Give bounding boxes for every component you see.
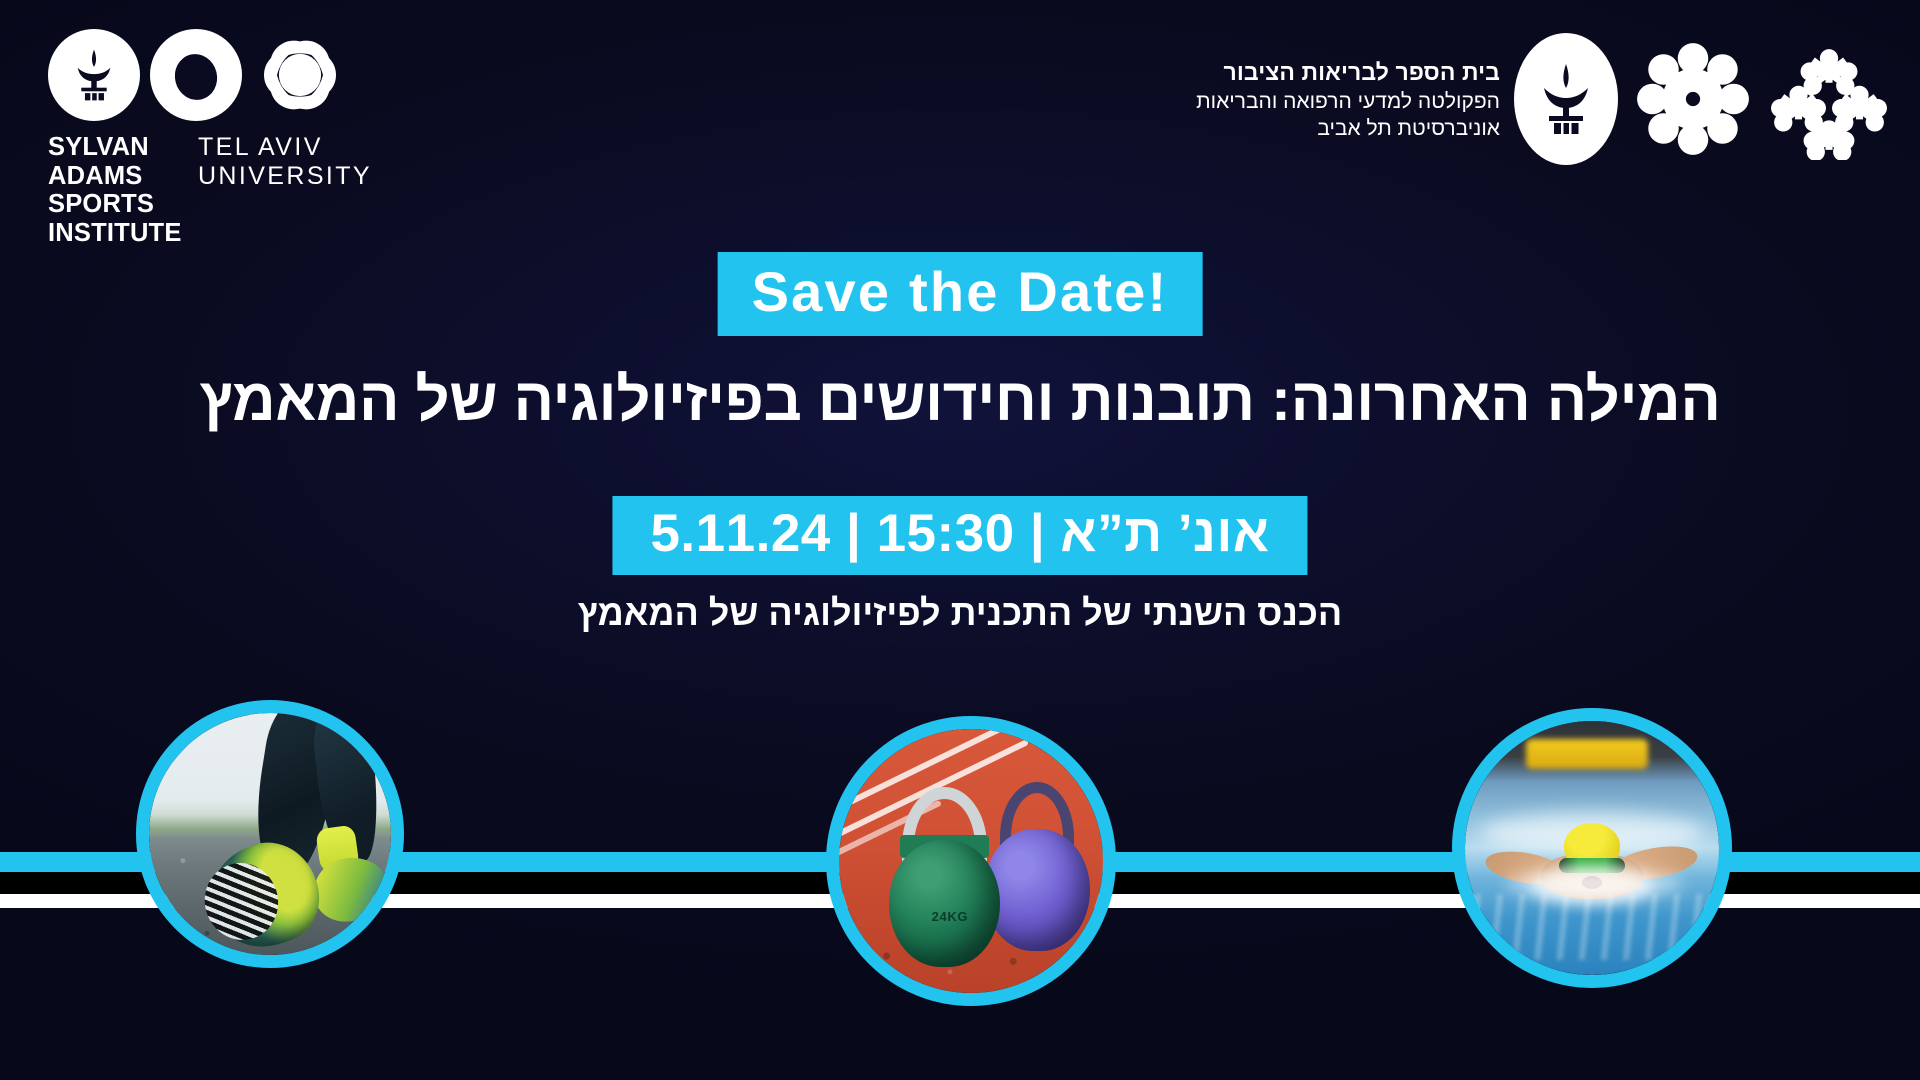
tau-seal-icon xyxy=(48,29,140,121)
kettlebell-photo-art: 24KG xyxy=(839,729,1103,993)
university-name: אוניברסיטת תל אביב xyxy=(1196,115,1500,142)
tau-wordmark-line1: TEL AVIV xyxy=(198,133,323,161)
menorah-glyph-icon xyxy=(65,46,123,104)
menorah-glyph-icon xyxy=(1534,60,1598,138)
swimmer-photo-inner xyxy=(1465,721,1719,975)
institute-name: SYLVAN ADAMS SPORTS INSTITUTE xyxy=(48,133,184,247)
kettlebell-weight-label: 24KG xyxy=(918,909,981,924)
kettlebell-green-body xyxy=(889,840,1000,967)
sylvan-adams-logo: SYLVAN ADAMS SPORTS INSTITUTE TEL AVIV U… xyxy=(42,26,372,186)
sylvan-adams-wordmark: SYLVAN ADAMS SPORTS INSTITUTE TEL AVIV U… xyxy=(42,133,372,247)
swirl-glyph-icon xyxy=(252,27,348,123)
tau-seal-icon xyxy=(1514,33,1618,165)
molecule-network-icon xyxy=(1768,38,1890,160)
sylvan-adams-marks xyxy=(42,26,372,124)
school-name: בית הספר לבריאות הציבור xyxy=(1196,58,1500,88)
faculty-name: הפקולטה למדעי הרפואה והבריאות xyxy=(1196,88,1500,115)
public-health-school-logo: בית הספר לבריאות הציבור הפקולטה למדעי הר… xyxy=(1196,24,1890,174)
pool-deck-banner xyxy=(1526,739,1648,769)
public-health-school-text: בית הספר לבריאות הציבור הפקולטה למדעי הר… xyxy=(1196,56,1500,142)
runner-photo xyxy=(136,700,404,968)
kettlebell-purple-body xyxy=(984,829,1090,950)
date-time-location-banner: אונ’ ת”א | 15:30 | 5.11.24 xyxy=(612,496,1307,575)
molecule-solid-glyph-icon xyxy=(1632,38,1754,160)
ring-icon xyxy=(150,29,242,121)
swirl-icon xyxy=(252,27,348,123)
kettlebell-photo-inner: 24KG xyxy=(839,729,1103,993)
molecule-solid-icon xyxy=(1632,38,1754,160)
kettlebell-photo: 24KG xyxy=(826,716,1116,1006)
event-subtitle: הכנס השנתי של התכנית לפיזיולוגיה של המאמ… xyxy=(0,592,1920,633)
runner-photo-art xyxy=(149,713,391,955)
runner-photo-inner xyxy=(149,713,391,955)
molecule-network-glyph-icon xyxy=(1768,38,1890,160)
event-headline: המילה האחרונה: תובנות וחידושים בפיזיולוג… xyxy=(0,366,1920,433)
swimmer-photo xyxy=(1452,708,1732,988)
water-ripples xyxy=(1475,894,1709,960)
tau-wordmark: TEL AVIV UNIVERSITY xyxy=(198,133,372,190)
institute-name-line1: SYLVAN ADAMS xyxy=(48,133,149,190)
tau-wordmark-line2: UNIVERSITY xyxy=(198,162,372,190)
swimmer-photo-art xyxy=(1465,721,1719,975)
save-the-date-banner: Save the Date! xyxy=(718,252,1203,336)
institute-name-line2: SPORTS INSTITUTE xyxy=(48,190,182,247)
poster-root: SYLVAN ADAMS SPORTS INSTITUTE TEL AVIV U… xyxy=(0,0,1920,1080)
